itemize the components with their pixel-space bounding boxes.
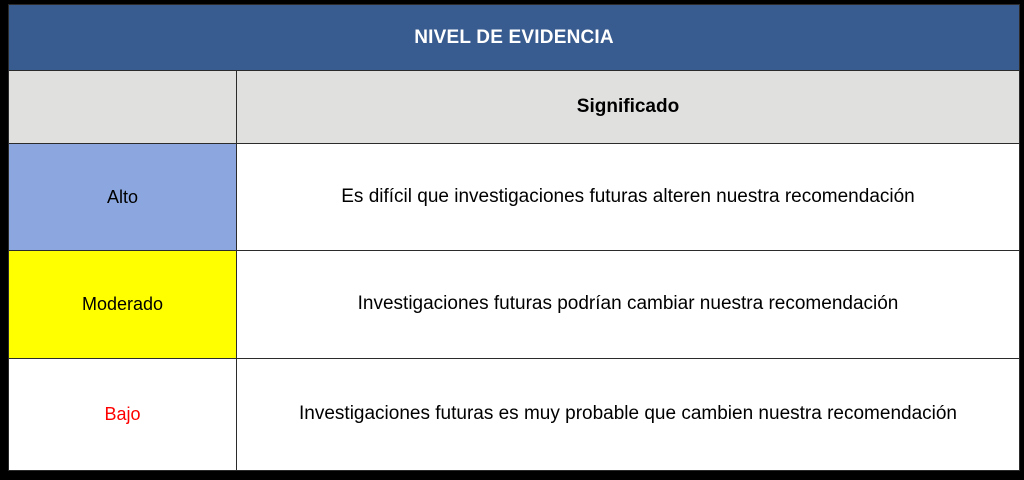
meaning-text-moderado: Investigaciones futuras podrían cambiar … [237,251,1020,359]
meaning-text-alto: Es difícil que investigaciones futuras a… [237,144,1020,251]
table-header-row: Significado [9,71,1020,144]
level-column-header [9,71,237,144]
level-label-moderado: Moderado [9,251,237,359]
evidence-level-table: NIVEL DE EVIDENCIA Significado Alto Es d… [8,4,1020,471]
meaning-text-bajo: Investigaciones futuras es muy probable … [237,359,1020,471]
meaning-column-header: Significado [237,71,1020,144]
evidence-table-frame: NIVEL DE EVIDENCIA Significado Alto Es d… [0,0,1024,480]
table-row: Bajo Investigaciones futuras es muy prob… [9,359,1020,471]
level-label-bajo: Bajo [9,359,237,471]
table-title: NIVEL DE EVIDENCIA [9,5,1020,71]
table-row: Alto Es difícil que investigaciones futu… [9,144,1020,251]
table-title-row: NIVEL DE EVIDENCIA [9,5,1020,71]
level-label-alto: Alto [9,144,237,251]
table-row: Moderado Investigaciones futuras podrían… [9,251,1020,359]
